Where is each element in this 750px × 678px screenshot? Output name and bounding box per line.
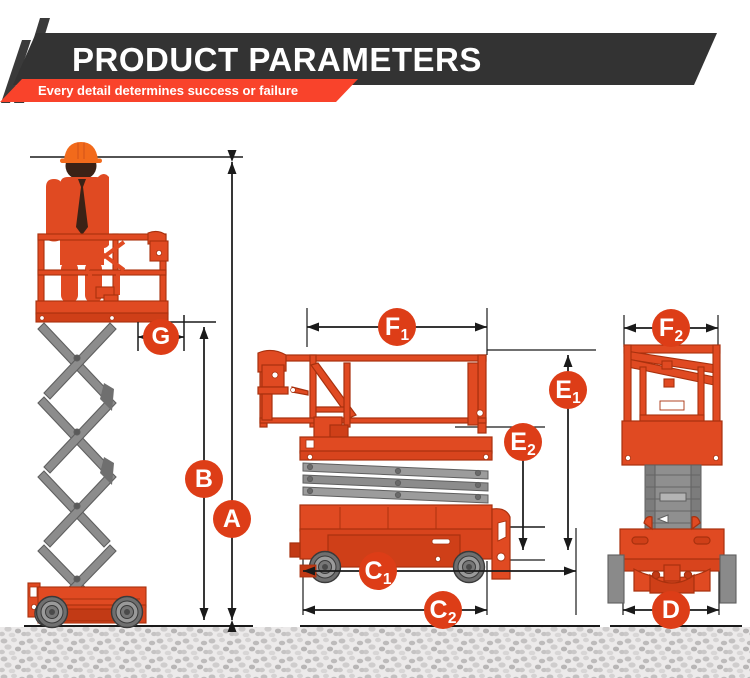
diagram-stage: A B G F1 E1 E2 C1 C2 F2 D <box>0 115 750 678</box>
dimension-badge-B: B <box>185 460 223 498</box>
front-platform-deck <box>622 421 722 465</box>
dimension-badge-E1: E1 <box>549 371 587 409</box>
view-elevated-scissor-lift-with-operator <box>28 142 243 628</box>
view-lowered-scissor-lift-side <box>258 308 596 615</box>
operator-figure <box>46 142 109 303</box>
ground-texture <box>0 627 750 678</box>
dimension-badge-C2: C2 <box>424 591 462 629</box>
dimension-badge-E2: E2 <box>504 423 542 461</box>
dimension-badge-A: A <box>213 500 251 538</box>
dimension-badge-F1: F1 <box>378 308 416 346</box>
page-subtitle: Every detail determines success or failu… <box>38 81 298 100</box>
dimension-badge-D: D <box>652 591 690 629</box>
lowered-platform-rails <box>258 350 486 433</box>
dimension-badge-F2: F2 <box>652 309 690 347</box>
dimension-badge-G: G <box>143 319 179 355</box>
raised-scissor-arms <box>38 323 116 619</box>
page-title: PRODUCT PARAMETERS <box>72 38 482 82</box>
view-scissor-lift-front <box>608 315 736 615</box>
page-header: PRODUCT PARAMETERS Every detail determin… <box>0 0 750 115</box>
product-parameters-page: PRODUCT PARAMETERS Every detail determin… <box>0 0 750 678</box>
front-platform-rails <box>624 345 720 423</box>
folded-scissor-arms <box>303 463 488 503</box>
machine-diagrams <box>0 115 750 678</box>
dimension-badge-C1: C1 <box>359 552 397 590</box>
